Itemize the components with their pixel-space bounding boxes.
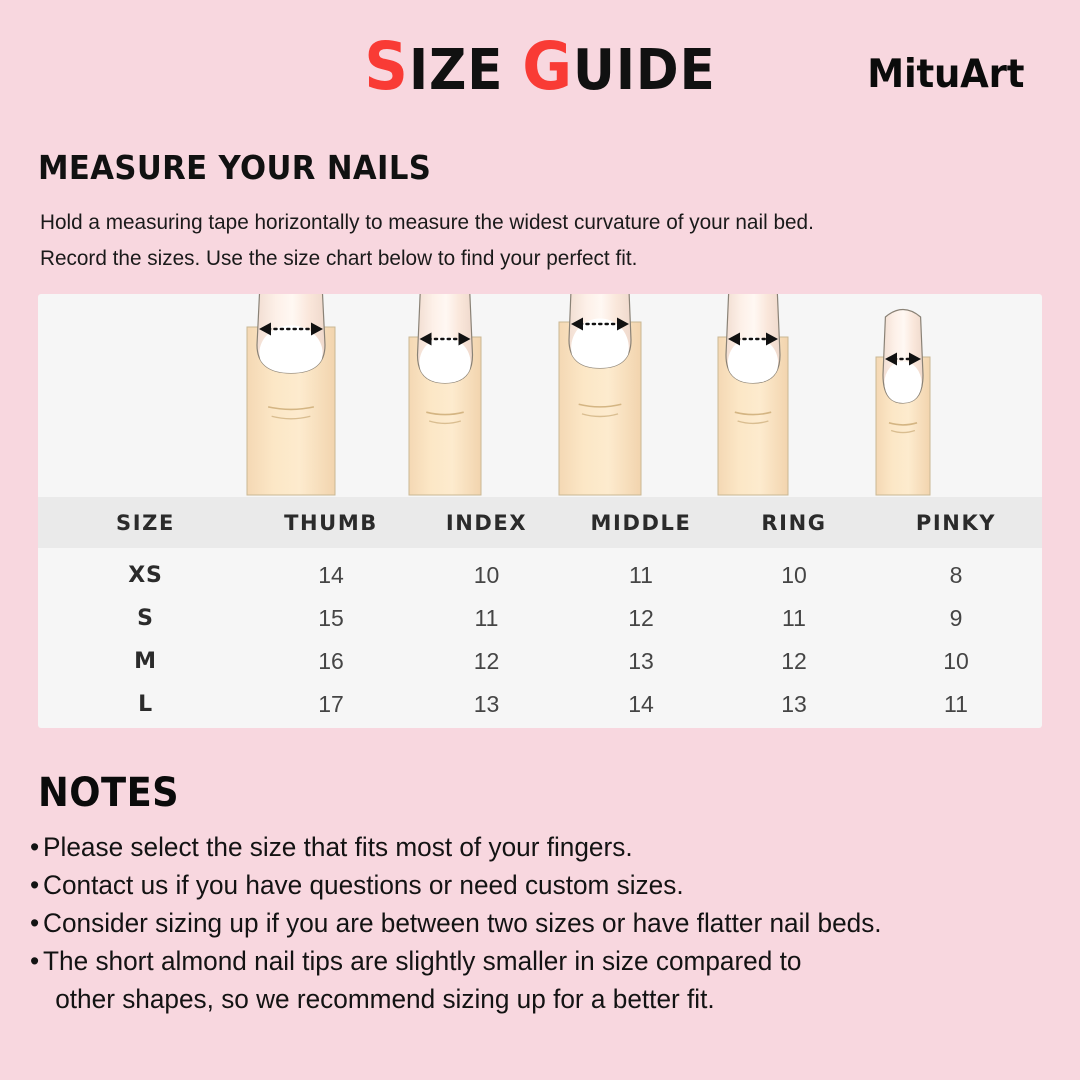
cell-middle-m: 13	[564, 648, 718, 675]
nail-illustrations	[38, 294, 1042, 497]
table-row: M 16 12 13 12 10	[38, 640, 1042, 683]
column-header-pinky: PINKY	[870, 511, 1042, 535]
note-text-4-continuation: other shapes, so we recommend sizing up …	[30, 980, 1039, 1018]
cell-pinky-l: 11	[870, 691, 1042, 718]
cell-thumb-m: 16	[253, 648, 409, 675]
cell-pinky-xs: 8	[870, 562, 1042, 589]
title-cap-s: S	[364, 28, 409, 105]
bullet-icon: •	[30, 908, 39, 938]
bullet-icon: •	[30, 832, 39, 862]
table-row: L 17 13 14 13 11	[38, 683, 1042, 726]
cell-thumb-xs: 14	[253, 562, 409, 589]
title-text-uide: UIDE	[573, 38, 716, 103]
bullet-icon: •	[30, 870, 39, 900]
cell-thumb-l: 17	[253, 691, 409, 718]
measure-instructions-line-2: Record the sizes. Use the size chart bel…	[40, 240, 1005, 276]
bullet-icon: •	[30, 946, 39, 976]
finger-illustration-ring	[710, 294, 796, 497]
cell-index-xs: 10	[409, 562, 564, 589]
size-chart-panel: SIZE THUMB INDEX MIDDLE RING PINKY XS 14…	[38, 294, 1042, 728]
note-text-1: Please select the size that fits most of…	[43, 832, 633, 862]
nail-bed	[884, 361, 921, 404]
note-text-3: Consider sizing up if you are between tw…	[43, 908, 882, 938]
cell-thumb-s: 15	[253, 605, 409, 632]
cell-pinky-s: 9	[870, 605, 1042, 632]
notes-heading: NOTES	[38, 770, 179, 816]
cell-ring-xs: 10	[718, 562, 870, 589]
cell-ring-m: 12	[718, 648, 870, 675]
list-item: •The short almond nail tips are slightly…	[30, 942, 1039, 980]
finger-illustration-pinky	[868, 294, 938, 497]
cell-middle-xs: 11	[564, 562, 718, 589]
cell-pinky-m: 10	[870, 648, 1042, 675]
cell-middle-l: 14	[564, 691, 718, 718]
cell-ring-s: 11	[718, 605, 870, 632]
title-text-ize: IZE	[409, 38, 522, 103]
column-header-ring: RING	[718, 511, 870, 535]
cell-middle-s: 12	[564, 605, 718, 632]
cell-size-m: M	[38, 649, 253, 674]
finger-illustration-index	[401, 294, 489, 497]
cell-index-s: 11	[409, 605, 564, 632]
title-cap-g: G	[522, 28, 573, 105]
table-row: XS 14 10 11 10 8	[38, 554, 1042, 597]
cell-index-l: 13	[409, 691, 564, 718]
measure-instructions: Hold a measuring tape horizontally to me…	[40, 204, 1005, 276]
cell-index-m: 12	[409, 648, 564, 675]
table-row: S 15 11 12 11 9	[38, 597, 1042, 640]
cell-size-s: S	[38, 606, 253, 631]
list-item: •Consider sizing up if you are between t…	[30, 904, 1039, 942]
notes-list: •Please select the size that fits most o…	[30, 828, 1039, 1018]
cell-size-xs: XS	[38, 563, 253, 588]
list-item: •Contact us if you have questions or nee…	[30, 866, 1039, 904]
column-header-index: INDEX	[409, 511, 564, 535]
note-text-2: Contact us if you have questions or need…	[43, 870, 684, 900]
finger-illustration-middle	[551, 294, 649, 497]
note-text-4: The short almond nail tips are slightly …	[43, 946, 801, 976]
measure-heading: MEASURE YOUR NAILS	[38, 148, 431, 187]
column-header-thumb: THUMB	[253, 511, 409, 535]
size-chart-table: SIZE THUMB INDEX MIDDLE RING PINKY XS 14…	[38, 497, 1042, 728]
cell-ring-l: 13	[718, 691, 870, 718]
cell-size-l: L	[38, 692, 253, 717]
brand-logo: MituArt	[867, 52, 1024, 97]
list-item: •Please select the size that fits most o…	[30, 828, 1039, 866]
measure-instructions-line-1: Hold a measuring tape horizontally to me…	[40, 204, 1005, 240]
column-header-middle: MIDDLE	[564, 511, 718, 535]
finger-illustration-thumb	[239, 294, 343, 497]
page-header: SIZE GUIDE MituArt	[0, 0, 1080, 130]
table-header-row: SIZE THUMB INDEX MIDDLE RING PINKY	[38, 497, 1042, 548]
column-header-size: SIZE	[38, 511, 253, 535]
